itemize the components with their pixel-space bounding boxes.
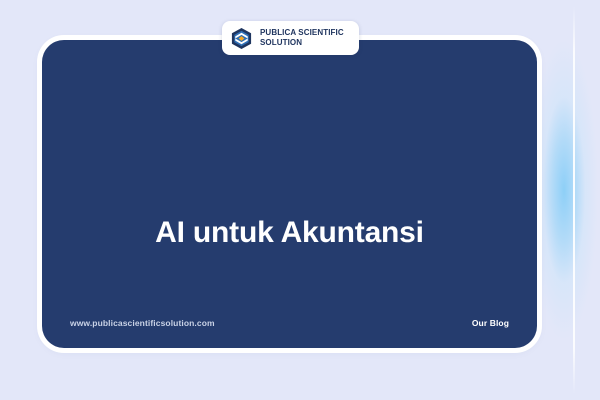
publica-hexagon-logo-icon <box>230 27 253 50</box>
background-glow-edge <box>573 6 575 394</box>
page-title: AI untuk Akuntansi <box>42 216 537 251</box>
presentation-card: AI untuk Akuntansi www.publicascientific… <box>42 40 537 348</box>
card-footer: www.publicascientificsolution.com Our Bl… <box>70 318 509 328</box>
brand-name-line1: PUBLICA SCIENTIFIC <box>260 28 344 38</box>
brand-badge-text: PUBLICA SCIENTIFIC SOLUTION <box>260 28 344 48</box>
footer-blog-link[interactable]: Our Blog <box>472 318 509 328</box>
footer-website-url[interactable]: www.publicascientificsolution.com <box>70 318 215 328</box>
background-glow <box>528 0 598 400</box>
slide-stage: AI untuk Akuntansi www.publicascientific… <box>0 0 600 400</box>
brand-name-line2: SOLUTION <box>260 38 344 48</box>
brand-badge[interactable]: PUBLICA SCIENTIFIC SOLUTION <box>222 21 359 55</box>
